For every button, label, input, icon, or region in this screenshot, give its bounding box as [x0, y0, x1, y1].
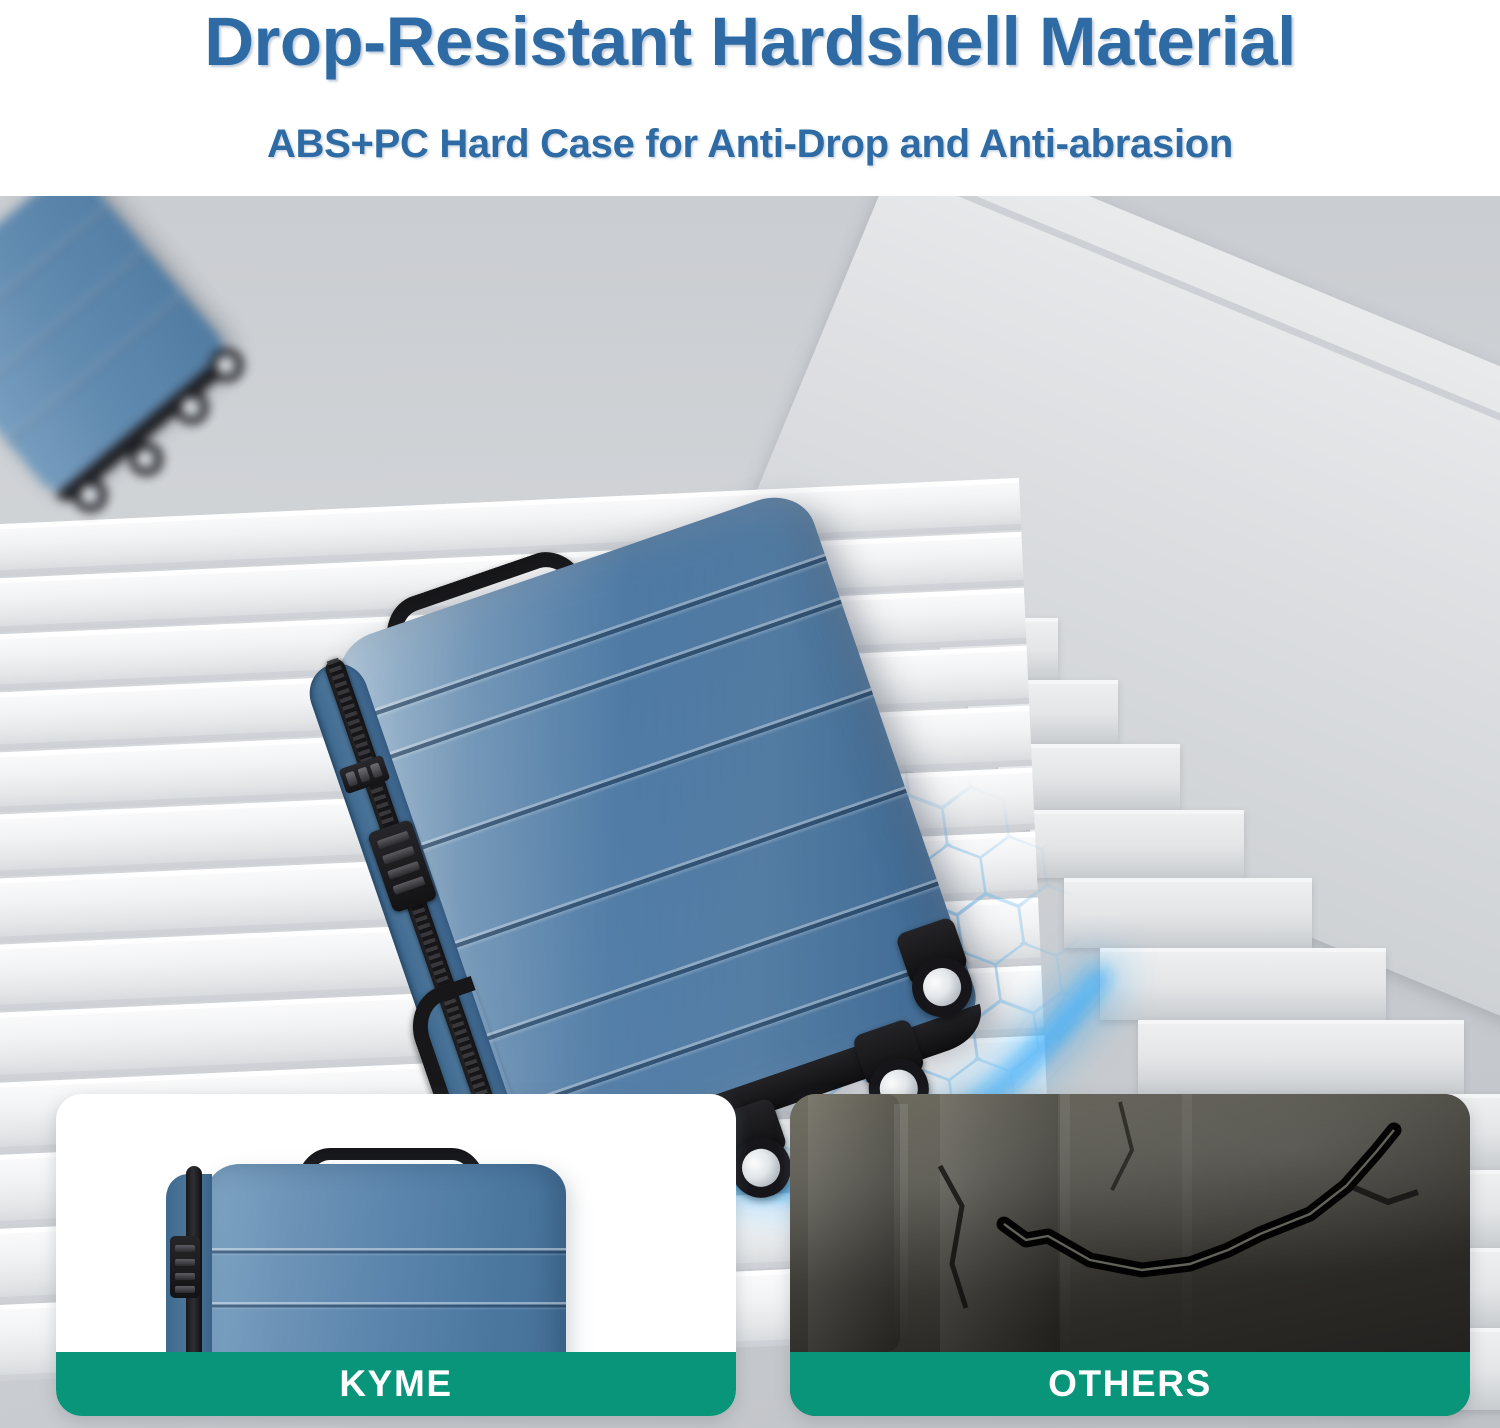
kyme-product-photo: [56, 1094, 736, 1352]
others-product-photo: [790, 1094, 1470, 1352]
panel-label-kyme: KYME: [56, 1352, 736, 1416]
comparison-panel-kyme: KYME: [56, 1094, 736, 1416]
page-title: Drop-Resistant Hardshell Material: [0, 2, 1500, 81]
page-subtitle: ABS+PC Hard Case for Anti-Drop and Anti-…: [0, 122, 1500, 167]
kyme-shell: [206, 1164, 566, 1352]
header-band: Drop-Resistant Hardshell Material ABS+PC…: [0, 0, 1500, 196]
kyme-tsa-lock: [170, 1236, 200, 1298]
panel-label-others: OTHERS: [790, 1352, 1470, 1416]
comparison-panel-others: OTHERS: [790, 1094, 1470, 1416]
crack-icon: [790, 1094, 1470, 1352]
others-cracked-shell: [790, 1094, 1470, 1352]
comparison-section: KYME: [0, 1094, 1500, 1428]
product-feature-image: Drop-Resistant Hardshell Material ABS+PC…: [0, 0, 1500, 1428]
